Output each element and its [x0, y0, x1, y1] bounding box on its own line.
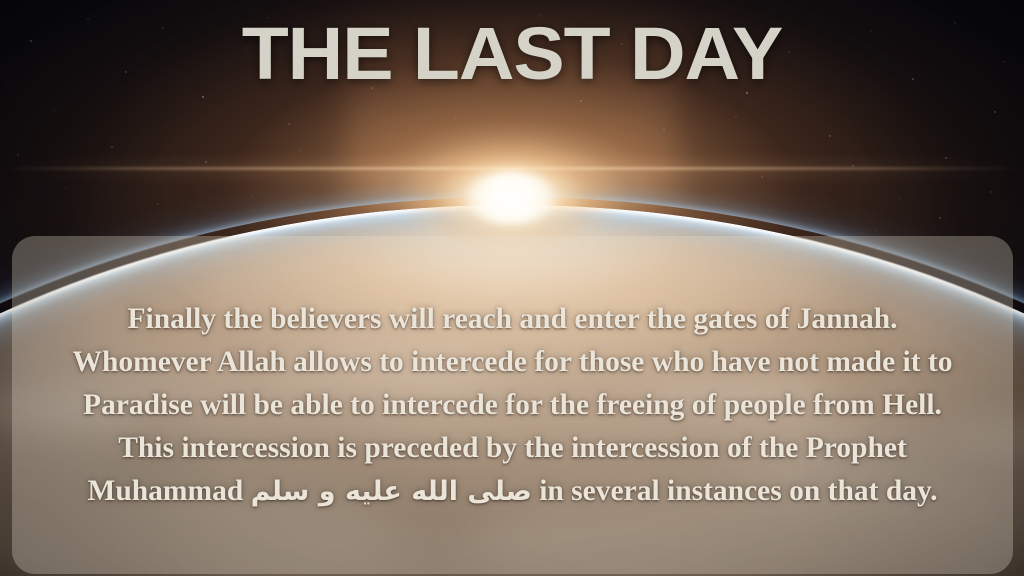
sun-core — [466, 172, 556, 224]
quote-panel: Finally the believers will reach and ent… — [12, 236, 1013, 574]
quote-line-4: This intercession is preceded by the int… — [20, 427, 1005, 470]
quote-line-5-before: Muhammad — [88, 475, 251, 507]
page-title: THE LAST DAY — [0, 17, 1024, 91]
salawat-arabic: صلى الله عليه و سلم — [251, 476, 532, 507]
quote-text: Finally the believers will reach and ent… — [12, 298, 1013, 513]
quote-line-3: Paradise will be able to intercede for t… — [20, 384, 1005, 427]
slide-canvas: THE LAST DAY Finally the believers will … — [0, 0, 1024, 576]
quote-line-5-after: in several instances on that day. — [532, 475, 938, 507]
quote-line-1: Finally the believers will reach and ent… — [20, 298, 1005, 341]
quote-line-5: Muhammad صلى الله عليه و سلم in several … — [20, 470, 1005, 513]
quote-line-2: Whomever Allah allows to intercede for t… — [20, 341, 1005, 384]
